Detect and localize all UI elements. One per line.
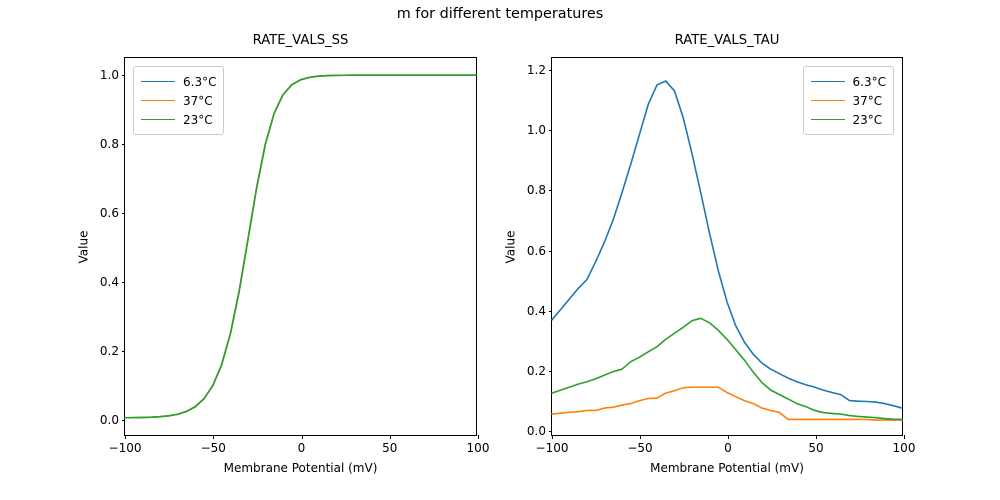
legend-right: 6.3°C37°C23°C — [803, 66, 894, 135]
ytick-label: 1.0 — [100, 68, 119, 82]
xtick-label: −100 — [536, 441, 569, 455]
legend-line-swatch — [141, 81, 175, 82]
axes-right-title: RATE_VALS_TAU — [552, 33, 902, 48]
ytick-label: 0.8 — [527, 183, 546, 197]
legend-entry[interactable]: 6.3°C — [811, 72, 886, 91]
axes-rate-vals-tau: RATE_VALS_TAU Value Membrane Potential (… — [551, 57, 903, 436]
ytick-label: 0.0 — [527, 424, 546, 438]
xtick-mark — [552, 435, 553, 439]
ytick-mark — [549, 130, 553, 131]
ytick-label: 0.4 — [527, 304, 546, 318]
legend-entry[interactable]: 6.3°C — [141, 72, 216, 91]
legend-left: 6.3°C37°C23°C — [133, 66, 224, 135]
ytick-mark — [122, 75, 126, 76]
data-line-23C — [552, 318, 902, 419]
ytick-mark — [122, 351, 126, 352]
legend-entry[interactable]: 37°C — [811, 91, 886, 110]
xtick-mark — [213, 435, 214, 439]
legend-label: 6.3°C — [853, 75, 886, 89]
xtick-label: −50 — [201, 441, 226, 455]
xtick-label: 100 — [893, 441, 916, 455]
axes-left-xlabel: Membrane Potential (mV) — [125, 461, 476, 475]
xtick-mark — [390, 435, 391, 439]
xtick-mark — [478, 435, 479, 439]
xtick-mark — [904, 435, 905, 439]
ytick-mark — [549, 70, 553, 71]
xtick-mark — [640, 435, 641, 439]
xtick-label: 50 — [382, 441, 397, 455]
ytick-mark — [549, 371, 553, 372]
legend-line-swatch — [811, 100, 845, 101]
xtick-label: −50 — [627, 441, 652, 455]
legend-line-swatch — [141, 119, 175, 120]
xtick-label: 50 — [808, 441, 823, 455]
ytick-label: 0.6 — [527, 244, 546, 258]
ytick-mark — [122, 144, 126, 145]
ytick-mark — [549, 311, 553, 312]
legend-line-swatch — [141, 100, 175, 101]
ytick-mark — [122, 420, 126, 421]
ytick-mark — [549, 190, 553, 191]
axes-right-xlabel: Membrane Potential (mV) — [552, 461, 902, 475]
ytick-mark — [549, 431, 553, 432]
matplotlib-figure: m for different temperatures RATE_VALS_S… — [0, 0, 1000, 500]
axes-right-ylabel: Value — [503, 230, 517, 263]
axes-rate-vals-ss: RATE_VALS_SS Value Membrane Potential (m… — [124, 57, 477, 436]
legend-entry[interactable]: 23°C — [141, 110, 216, 129]
ytick-label: 1.0 — [527, 123, 546, 137]
axes-left-ylabel: Value — [76, 230, 90, 263]
legend-line-swatch — [811, 119, 845, 120]
ytick-mark — [122, 213, 126, 214]
xtick-label: 100 — [467, 441, 490, 455]
xtick-label: 0 — [724, 441, 732, 455]
figure-suptitle: m for different temperatures — [0, 6, 1000, 22]
ytick-mark — [122, 282, 126, 283]
legend-entry[interactable]: 37°C — [141, 91, 216, 110]
ytick-label: 0.2 — [527, 364, 546, 378]
legend-line-swatch — [811, 81, 845, 82]
xtick-mark — [302, 435, 303, 439]
ytick-label: 0.2 — [100, 344, 119, 358]
legend-label: 6.3°C — [183, 75, 216, 89]
ytick-label: 0.0 — [100, 413, 119, 427]
xtick-label: −100 — [109, 441, 142, 455]
legend-label: 23°C — [183, 113, 213, 127]
legend-label: 37°C — [853, 94, 883, 108]
legend-label: 23°C — [853, 113, 883, 127]
axes-left-title: RATE_VALS_SS — [125, 33, 476, 48]
ytick-mark — [549, 251, 553, 252]
xtick-mark — [816, 435, 817, 439]
ytick-label: 0.4 — [100, 275, 119, 289]
xtick-mark — [125, 435, 126, 439]
legend-label: 37°C — [183, 94, 213, 108]
ytick-label: 0.6 — [100, 206, 119, 220]
ytick-label: 1.2 — [527, 63, 546, 77]
xtick-mark — [728, 435, 729, 439]
ytick-label: 0.8 — [100, 137, 119, 151]
xtick-label: 0 — [298, 441, 306, 455]
legend-entry[interactable]: 23°C — [811, 110, 886, 129]
